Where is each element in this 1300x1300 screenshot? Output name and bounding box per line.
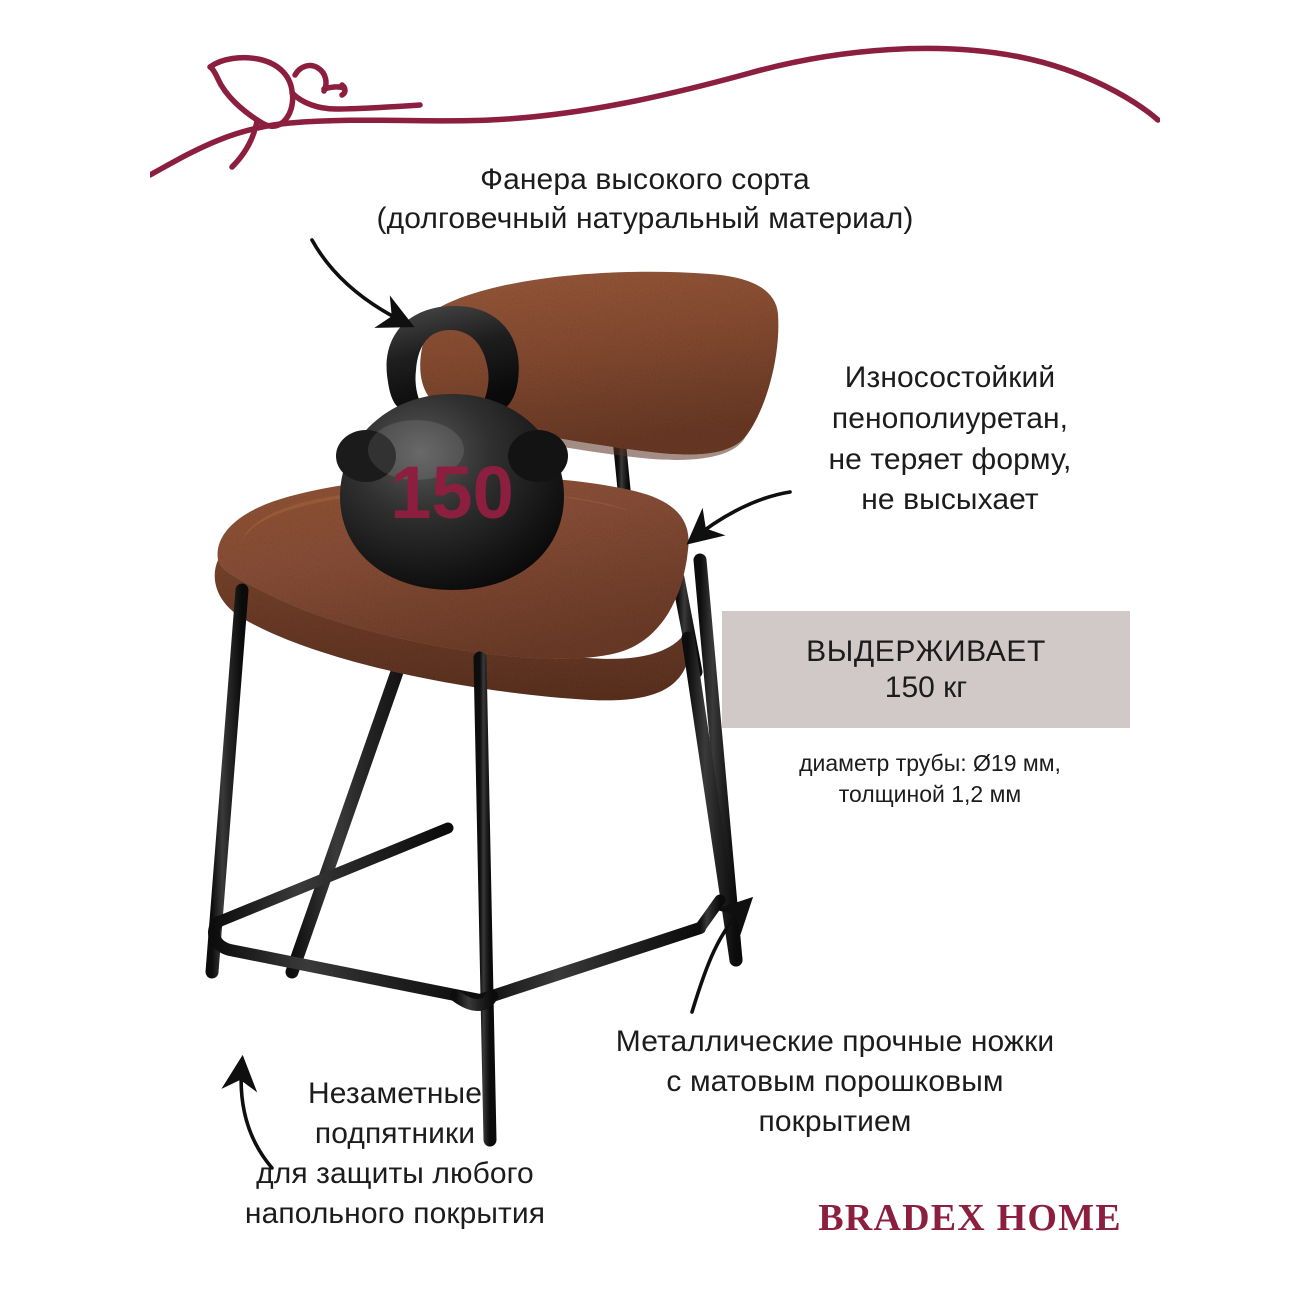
brand-logo: BRADEX HOME [0,1196,1300,1240]
brand-name: BRADEX HOME [818,1197,1122,1239]
callout-plywood: Фанера высокого сорта (долговечный натур… [280,160,1010,238]
infographic-canvas: Фанера высокого сорта (долговечный натур… [0,0,1300,1300]
product-image-bar-stool: 150 [180,260,900,1180]
kettlebell-weight-label: 150 [390,451,513,534]
